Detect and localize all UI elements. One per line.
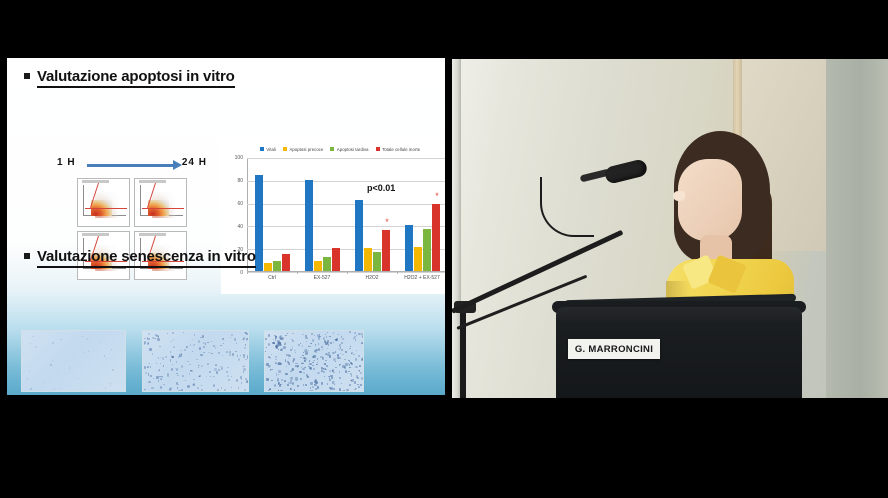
cell-speck xyxy=(176,382,178,385)
cell-speck xyxy=(353,379,354,380)
cell-speck xyxy=(335,367,337,368)
nose xyxy=(673,191,685,201)
micrograph-control xyxy=(21,330,126,392)
legend-item-1: Apoptosi precoce xyxy=(283,147,323,152)
cell-speck xyxy=(302,368,305,370)
cell-speck xyxy=(278,370,280,373)
cell-speck xyxy=(288,358,289,359)
cell-speck xyxy=(99,342,100,343)
cell-speck xyxy=(224,389,226,391)
cell-speck xyxy=(346,389,349,391)
cell-speck xyxy=(274,384,276,387)
bar-H2O2-Apoptosi precoce xyxy=(364,248,372,271)
cell-speck xyxy=(329,336,330,337)
cell-speck xyxy=(144,366,146,369)
cell-speck xyxy=(278,362,280,365)
cell-speck xyxy=(275,356,277,358)
cell-speck xyxy=(304,360,306,362)
cell-speck xyxy=(265,351,266,352)
cell-speck xyxy=(240,376,242,379)
cell-speck xyxy=(236,343,237,344)
cell-speck xyxy=(310,382,312,384)
cell-speck xyxy=(324,340,326,341)
cell-speck xyxy=(213,385,215,387)
cell-speck xyxy=(360,384,362,386)
cell-speck xyxy=(325,360,327,361)
cell-speck xyxy=(229,349,230,350)
cell-speck xyxy=(150,366,152,368)
cell-speck xyxy=(231,376,232,378)
cell-speck xyxy=(30,388,32,390)
cell-speck xyxy=(318,348,320,351)
cell-speck xyxy=(337,354,339,357)
cell-speck xyxy=(223,343,224,344)
bullet-square-icon xyxy=(24,73,30,79)
cell-speck xyxy=(78,378,79,379)
cell-speck xyxy=(322,349,323,350)
cell-speck xyxy=(246,340,247,341)
bar-group: H2O2 xyxy=(347,157,397,271)
cell-speck xyxy=(209,371,211,374)
cell-speck xyxy=(167,333,168,334)
cell-speck xyxy=(182,375,184,377)
cell-speck xyxy=(203,346,205,348)
cell-speck xyxy=(32,336,34,338)
cell-speck xyxy=(271,369,273,371)
x-tick xyxy=(347,271,348,274)
cell-speck xyxy=(199,376,200,377)
cell-speck xyxy=(325,368,326,370)
cell-speck xyxy=(231,334,233,336)
cell-speck xyxy=(311,333,312,335)
y-tick-label: 0 xyxy=(240,270,243,276)
cell-speck xyxy=(221,387,222,389)
flow-plot-top-right xyxy=(134,178,187,227)
cell-speck xyxy=(201,385,202,386)
bar-H2O2 + EX-527-Apoptosi precoce xyxy=(414,247,422,272)
cell-speck xyxy=(333,372,335,373)
cell-speck xyxy=(343,390,346,392)
pvalue-annotation: p<0.01 xyxy=(367,183,395,193)
cell-speck xyxy=(305,384,307,386)
micrograph-ex527-high xyxy=(264,330,364,392)
cell-speck xyxy=(173,346,175,348)
cell-speck xyxy=(336,338,339,341)
apoptosis-bar-chart: VitaliApoptosi precoceApoptosi tardivaTo… xyxy=(221,142,445,294)
cell-speck xyxy=(342,354,344,356)
cell-speck xyxy=(229,353,231,356)
cell-speck xyxy=(341,342,343,344)
cell-speck xyxy=(160,378,161,380)
cell-speck xyxy=(172,332,174,333)
legend-swatch-icon xyxy=(376,147,380,151)
cell-speck xyxy=(160,363,161,364)
cell-speck xyxy=(289,364,290,365)
y-tick-label: 60 xyxy=(237,201,243,207)
cell-speck xyxy=(208,352,210,354)
cell-speck xyxy=(344,359,346,360)
cell-speck xyxy=(334,384,335,385)
cell-speck xyxy=(357,384,359,385)
cell-speck xyxy=(265,338,266,340)
cell-speck xyxy=(341,383,342,384)
cell-speck xyxy=(269,389,270,390)
cell-speck xyxy=(297,365,299,367)
cell-speck xyxy=(312,339,314,342)
cell-speck xyxy=(235,351,236,352)
cell-speck xyxy=(339,344,341,346)
cell-speck xyxy=(156,376,158,379)
cell-speck xyxy=(309,360,310,361)
cell-speck xyxy=(162,357,164,359)
cell-speck xyxy=(323,371,325,373)
cell-speck xyxy=(275,340,276,341)
cell-speck xyxy=(176,368,178,370)
cell-speck xyxy=(186,346,188,348)
cell-speck xyxy=(302,334,304,336)
cell-speck xyxy=(222,338,224,340)
cell-speck xyxy=(268,365,270,368)
cell-speck xyxy=(360,372,362,375)
chart-plot-area: 020406080100CtrlEX-527H2O2H2O2 + EX-527p… xyxy=(247,158,445,272)
cell-speck xyxy=(144,338,146,339)
cell-speck xyxy=(322,357,324,360)
cell-speck xyxy=(110,385,111,386)
cell-speck xyxy=(183,332,184,334)
cell-speck xyxy=(363,349,364,351)
cell-speck xyxy=(338,334,339,335)
cell-speck xyxy=(192,339,193,341)
cell-speck xyxy=(240,355,241,356)
cell-speck xyxy=(203,352,204,353)
cell-speck xyxy=(154,338,156,339)
cell-speck xyxy=(312,362,313,363)
face xyxy=(678,159,742,241)
cell-speck xyxy=(351,363,352,365)
cell-speck xyxy=(228,379,230,380)
cell-speck xyxy=(196,359,198,360)
cell-speck xyxy=(170,387,172,390)
cell-speck xyxy=(149,348,151,351)
cell-speck xyxy=(325,334,326,335)
x-tick xyxy=(247,271,248,274)
cell-speck xyxy=(302,355,303,357)
cell-speck xyxy=(351,375,353,377)
cell-speck xyxy=(111,349,112,350)
cell-speck xyxy=(342,338,344,341)
cell-speck xyxy=(200,354,203,356)
x-tick-label: H2O2 + EX-527 xyxy=(397,275,445,281)
cell-speck xyxy=(315,351,317,354)
cell-speck xyxy=(185,380,186,381)
cell-speck xyxy=(150,375,152,377)
presentation-slide: Valutazione apoptosi in vitro 1 H 24 H xyxy=(7,58,445,395)
bar-Ctrl-Apoptosi tardiva xyxy=(273,261,281,271)
cell-speck xyxy=(292,348,293,349)
cell-speck xyxy=(159,346,161,347)
cell-speck xyxy=(201,365,203,367)
cell-speck xyxy=(246,333,248,335)
cell-speck xyxy=(189,373,191,375)
cell-speck xyxy=(339,371,340,372)
cell-speck xyxy=(310,367,313,370)
cell-speck xyxy=(226,351,228,353)
cell-speck xyxy=(243,368,245,371)
cell-speck xyxy=(309,390,311,392)
cell-speck xyxy=(211,353,213,355)
cell-speck xyxy=(327,383,329,384)
cell-speck xyxy=(52,360,53,361)
cell-speck xyxy=(238,358,240,361)
cell-speck xyxy=(157,338,160,341)
cell-speck xyxy=(312,365,314,366)
legend-swatch-icon xyxy=(330,147,334,151)
timeline-start-label: 1 H xyxy=(57,157,76,168)
cell-speck xyxy=(317,386,319,388)
cell-speck xyxy=(290,371,292,373)
bar-EX-527-Vitali xyxy=(305,180,313,271)
cell-speck xyxy=(299,371,301,373)
cell-speck xyxy=(315,344,317,346)
cell-speck xyxy=(348,363,350,364)
cell-speck xyxy=(276,345,278,347)
cell-speck xyxy=(197,387,199,389)
cell-speck xyxy=(284,343,287,345)
timeline-end-label: 24 H xyxy=(182,157,207,168)
cell-speck xyxy=(337,357,339,358)
legend-swatch-icon xyxy=(260,147,264,151)
cell-speck xyxy=(290,349,292,351)
cell-speck xyxy=(345,370,347,373)
cell-speck xyxy=(335,351,337,353)
cell-speck xyxy=(347,373,348,374)
cell-speck xyxy=(149,363,150,364)
cell-speck xyxy=(278,374,279,375)
cell-speck xyxy=(339,365,340,366)
cell-speck xyxy=(211,341,212,342)
legend-label: Apoptosi precoce xyxy=(289,147,323,152)
cell-speck xyxy=(178,384,179,385)
cell-speck xyxy=(363,389,364,390)
cell-speck xyxy=(300,378,302,380)
cell-speck xyxy=(297,385,299,387)
cell-speck xyxy=(176,361,177,362)
micrograph-ex527-low xyxy=(142,330,249,392)
cell-speck xyxy=(187,385,190,388)
cell-speck xyxy=(238,387,240,389)
bar-group: H2O2 + EX-527 xyxy=(397,157,445,271)
significance-asterisk: * xyxy=(385,220,389,225)
legend-label: Apoptosi tardiva xyxy=(337,147,369,152)
cell-speck xyxy=(356,350,357,351)
cell-speck xyxy=(326,365,329,367)
bar-group: EX-527 xyxy=(297,157,347,271)
cell-speck xyxy=(339,377,341,379)
cell-speck xyxy=(363,369,364,370)
chart-legend: VitaliApoptosi precoceApoptosi tardivaTo… xyxy=(227,143,445,155)
cell-speck xyxy=(326,336,327,338)
cell-speck xyxy=(158,380,159,382)
cell-speck xyxy=(306,341,307,342)
cell-speck xyxy=(351,352,354,354)
cell-speck xyxy=(247,355,249,358)
cell-speck xyxy=(241,382,242,384)
cell-speck xyxy=(268,343,270,346)
cell-speck xyxy=(105,387,107,389)
cell-speck xyxy=(339,349,340,350)
cell-speck xyxy=(87,338,88,339)
letterbox-middle xyxy=(445,0,452,498)
cell-speck xyxy=(226,371,228,373)
cell-speck xyxy=(317,362,318,363)
cell-speck xyxy=(206,376,207,378)
speaker-video-feed: G. MARRONCINI xyxy=(452,59,888,398)
cell-speck xyxy=(290,388,292,390)
gridline: 0 xyxy=(247,272,445,273)
cell-speck xyxy=(303,372,305,374)
cell-speck xyxy=(241,379,242,380)
cell-speck xyxy=(266,378,268,381)
cell-speck xyxy=(243,356,245,358)
cell-speck xyxy=(354,336,356,339)
micrograph-caption-1: Ctrl-H₂O₂ xyxy=(37,394,71,395)
cell-speck xyxy=(321,346,322,348)
y-tick-label: 100 xyxy=(235,155,243,161)
cell-speck xyxy=(333,358,336,361)
cell-speck xyxy=(215,347,216,348)
cell-speck xyxy=(349,364,350,365)
cell-speck xyxy=(227,375,230,378)
cell-speck xyxy=(147,366,149,368)
cell-speck xyxy=(244,347,246,349)
x-tick-label: EX-527 xyxy=(297,275,347,281)
cell-speck xyxy=(280,342,281,343)
cell-speck xyxy=(358,386,360,387)
cell-speck xyxy=(275,359,276,360)
cell-speck xyxy=(333,342,334,343)
arrow-shaft xyxy=(87,164,175,167)
cell-speck xyxy=(323,337,325,340)
cell-speck xyxy=(292,340,294,342)
cell-speck xyxy=(244,389,246,391)
cell-speck xyxy=(171,368,174,371)
cell-speck xyxy=(354,381,356,384)
cell-speck xyxy=(358,355,360,357)
cell-speck xyxy=(229,351,232,353)
cell-speck xyxy=(283,339,284,340)
cell-speck xyxy=(220,345,222,346)
cell-speck xyxy=(332,369,334,370)
cell-speck xyxy=(148,333,150,335)
cell-speck xyxy=(210,376,212,377)
cell-speck xyxy=(360,333,363,335)
cell-speck xyxy=(266,347,267,348)
cell-speck xyxy=(290,355,292,356)
bar-H2O2 + EX-527-Totale cellule morte xyxy=(432,204,440,271)
cell-speck xyxy=(292,346,293,347)
legend-item-2: Apoptosi tardiva xyxy=(330,147,368,152)
cell-speck xyxy=(35,346,36,347)
cell-speck xyxy=(311,390,312,392)
cell-speck xyxy=(355,366,358,368)
cell-speck xyxy=(106,358,107,359)
cell-speck xyxy=(202,335,204,338)
cell-speck xyxy=(268,390,270,392)
cell-speck xyxy=(281,379,283,380)
cell-speck xyxy=(305,351,307,355)
cell-speck xyxy=(292,382,294,385)
legend-item-0: Vitali xyxy=(260,147,276,152)
cell-speck xyxy=(198,365,199,367)
cell-speck xyxy=(172,364,173,365)
cell-speck xyxy=(236,379,238,381)
cell-speck xyxy=(88,351,89,353)
cell-speck xyxy=(173,339,174,340)
cell-speck xyxy=(215,364,217,366)
cell-speck xyxy=(245,359,247,361)
cell-speck xyxy=(207,342,209,344)
cell-speck xyxy=(60,388,61,389)
cell-speck xyxy=(316,364,318,366)
cell-speck xyxy=(278,390,280,391)
cell-speck xyxy=(234,338,236,341)
cell-speck xyxy=(189,364,191,366)
cell-speck xyxy=(361,377,363,380)
cell-speck xyxy=(285,335,287,336)
slide-section-heading-apoptosis: Valutazione apoptosi in vitro xyxy=(24,68,235,85)
bullet-square-icon-2 xyxy=(24,253,30,259)
legend-swatch-icon xyxy=(283,147,287,151)
cell-speck xyxy=(294,389,295,391)
cell-speck xyxy=(290,380,292,382)
cell-speck xyxy=(303,352,304,353)
cell-speck xyxy=(203,342,205,343)
cell-speck xyxy=(176,373,177,374)
cell-speck xyxy=(181,389,183,391)
cell-speck xyxy=(295,352,296,353)
senescence-image-row: Ctrl-H₂O₂ Ex527 (0.5µM)+H₂O₂ Ex527 (5 µM… xyxy=(21,330,437,392)
cell-speck xyxy=(344,366,347,369)
cell-speck xyxy=(52,342,54,344)
cell-speck xyxy=(324,376,325,378)
cell-speck xyxy=(339,364,340,365)
y-tick-label: 80 xyxy=(237,178,243,184)
cell-speck xyxy=(333,388,335,390)
cell-speck xyxy=(158,370,160,372)
cell-speck xyxy=(84,352,85,353)
cell-speck xyxy=(295,363,298,365)
cell-speck xyxy=(247,381,249,384)
cell-speck xyxy=(50,364,52,367)
cell-speck xyxy=(361,358,363,361)
cell-speck xyxy=(287,333,288,334)
cell-speck xyxy=(218,369,220,372)
letterbox-bottom xyxy=(0,399,888,498)
bar-EX-527-Apoptosi tardiva xyxy=(323,257,331,271)
cell-speck xyxy=(274,391,275,392)
cell-speck xyxy=(332,352,335,354)
bar-EX-527-Apoptosi precoce xyxy=(314,261,322,271)
cell-speck xyxy=(350,346,351,347)
cell-speck xyxy=(181,365,183,368)
cell-speck xyxy=(230,337,231,338)
cell-speck xyxy=(158,357,159,358)
cell-speck xyxy=(320,356,322,358)
cell-speck xyxy=(318,343,319,344)
cell-speck xyxy=(302,345,303,347)
slide-section-heading-senescence: Valutazione senescenza in vitro xyxy=(24,248,256,265)
cell-speck xyxy=(333,332,335,334)
